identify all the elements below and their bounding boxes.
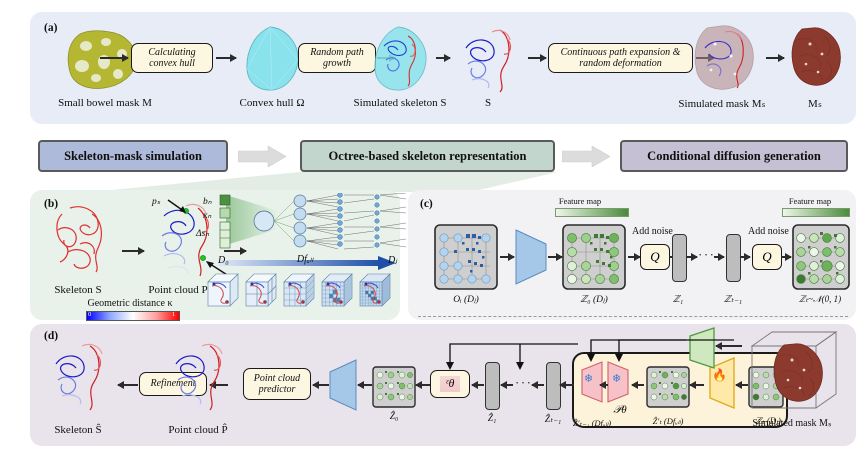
caption-simulated-mask: Simulated mask Mₛ [678, 97, 765, 110]
arrow-simmask-to-Ms [766, 57, 784, 59]
banner-connector-wedge [90, 172, 560, 192]
caption-point-cloud-P: Point cloud P [148, 284, 207, 296]
step-calculating-convex-hull: Calculating convex hull [131, 43, 213, 73]
ptheta-operator-label: ᵋθ [440, 376, 461, 392]
latent-Zt-1-block [726, 234, 741, 282]
simulated-mask-box-render [740, 330, 844, 418]
ellipsis-d: ··· [515, 375, 533, 391]
panel-c-tag: (c) [420, 198, 433, 210]
decoder-trapezoid [328, 358, 358, 412]
banner-conditional-diffusion[interactable]: Conditional diffusion generation [620, 140, 848, 172]
noise-operator-Q-2: Q [752, 244, 782, 270]
skeleton-hat-S-render [40, 338, 116, 416]
label-delta-sn: Δsₙ [196, 228, 209, 239]
skeleton-S-render [452, 22, 526, 96]
arrow-Z0-to-Q1 [628, 256, 640, 258]
caption-S: S [485, 97, 491, 109]
label-Zt-1: ℤₜ₋₁ [724, 294, 742, 305]
colorbar-title: Geometric distance κ [87, 298, 172, 309]
arrow-Z1-to-dots [687, 256, 697, 258]
feature-map-label-2: Feature map [789, 196, 831, 206]
octree-mlp-network [218, 193, 408, 255]
arrow-Z1hat-to-Ptheta [472, 384, 484, 386]
feature-map-gradient-2 [782, 208, 850, 217]
banner-skeleton-mask-simulation[interactable]: Skeleton-mask simulation [38, 140, 228, 172]
label-Z1: ℤ₁ [673, 294, 683, 305]
convex-hull-render [240, 24, 306, 94]
depth-label-Dfull: Dfᵤₗₗ [297, 254, 313, 265]
step-continuous-path-expansion: Continuous path expansion & random defor… [548, 43, 693, 73]
latent-Z0-grid [562, 224, 626, 290]
latent-Z0-hat-grid [372, 366, 416, 408]
add-noise-label-2: Add noise [748, 226, 789, 237]
label-Z1-hat: Ẑ₁ [488, 414, 497, 424]
simulated-mask-translucent-render [685, 22, 761, 96]
label-Zt-1-hat-Dfull: Ẑ′ₜ₋₁ (Dfᵤₗₗ) [573, 418, 611, 429]
figure-root: (a) Calculating convex hull Random path … [0, 0, 865, 455]
ptheta-module-label: 𝒫θ [613, 404, 626, 417]
arrow-mask-to-step1 [100, 57, 128, 59]
arrow-Ztm1hat-to-dots [532, 384, 544, 386]
conditioning-routing-lines [566, 332, 736, 386]
banner-arrow-2 [562, 146, 610, 167]
caption-simulated-skeleton: Simulated skeleton S [354, 97, 447, 109]
arrow-skeleton-to-pointcloud [122, 250, 144, 252]
banner-octree-representation[interactable]: Octree-based skeleton representation [300, 140, 555, 172]
arrow-dots-to-Z1hat [501, 384, 513, 386]
arrow-step1-to-hull [216, 57, 236, 59]
latent-Z1-block [672, 234, 687, 282]
label-Z0-hat: Ẑ₀ [390, 412, 399, 422]
final-mask-Ms-render [784, 24, 846, 94]
arrow-decoder-to-predictor [313, 384, 329, 386]
arrow-to-ps-marker [166, 198, 206, 220]
label-bn: bₙ [203, 196, 212, 207]
panel-c-divider [418, 316, 848, 317]
caption-Ms: Mₛ [808, 97, 822, 110]
banner-arrow-1 [238, 146, 286, 167]
caption-small-bowel-mask: Small bowel mask M [58, 97, 152, 109]
arrow-encoder-to-Z0 [548, 256, 562, 258]
encoder-trapezoid [514, 228, 548, 286]
step-random-path-growth: Random path growth [298, 43, 376, 73]
caption-point-cloud-hat-P: Point cloud P̂ [168, 424, 227, 436]
step-point-cloud-predictor: Point cloud predictor [243, 368, 311, 400]
arrow-Oi-to-encoder [500, 256, 514, 258]
label-Zt-1-hat: Ẑₜ₋₁ [545, 414, 561, 425]
caption-simulated-mask-d: Simulated mask Mₛ [752, 418, 831, 429]
arrow-Ptheta-to-Z0hat [416, 384, 430, 386]
label-Oi-Dj: Oᵢ (Dⱼ) [453, 294, 479, 305]
label-Zt-normal: ℤₜ~𝒩(0, 1) [799, 294, 841, 305]
arrow-refinement-to-skeleton [118, 384, 138, 386]
arrow-Q2-to-Zt [781, 256, 791, 258]
caption-convex-hull: Convex hull Ω [239, 97, 304, 109]
simulated-skeleton-in-hull-render [368, 24, 434, 94]
caption-skeleton-hat-S: Skeleton Ŝ [54, 424, 101, 436]
skeleton-S-red-render [44, 200, 118, 278]
arrow-dots-to-Ztm1 [714, 256, 724, 258]
arrow-mask-to-green-encoder [716, 345, 742, 347]
depth-label-D0: D₀ [218, 255, 229, 266]
feature-map-label-1: Feature map [559, 196, 601, 206]
label-Zt-hat-Dfull: Ẑ′ₜ (Dfᵤₗₗ) [653, 416, 684, 427]
arrow-hullskel-to-S [436, 57, 450, 59]
caption-skeleton-S-b: Skeleton S [54, 284, 101, 296]
label-ps: pₛ [152, 196, 160, 207]
geometric-distance-colorbar [86, 311, 180, 321]
label-kappan: κₙ [203, 210, 211, 221]
depth-label-Dj: Dⱼ [388, 255, 397, 266]
label-Z0-Dj: ℤ₀ (Dⱼ) [580, 294, 608, 305]
octree-tokens-Oi-grid [434, 224, 498, 290]
arrow-Z0hat-to-decoder [358, 384, 372, 386]
octree-subdivision-cubes [206, 268, 402, 318]
latent-feedback-loop [430, 340, 580, 374]
arrow-S-to-step3 [528, 57, 546, 59]
feature-map-gradient-1 [555, 208, 629, 217]
ptheta-operator-box: ᵋθ [430, 370, 470, 398]
latent-Zt-noise-grid [792, 224, 850, 290]
point-cloud-hat-P-render [160, 338, 236, 416]
arrow-Ztm1-to-Q2 [740, 256, 750, 258]
colorbar-min-label: 0 [88, 311, 91, 318]
panel-a-tag: (a) [44, 22, 57, 34]
add-noise-label-1: Add noise [632, 226, 673, 237]
colorbar-max-label: 1 [172, 311, 175, 318]
ellipsis-c: ··· [698, 247, 716, 263]
noise-operator-Q-1: Q [640, 244, 670, 270]
